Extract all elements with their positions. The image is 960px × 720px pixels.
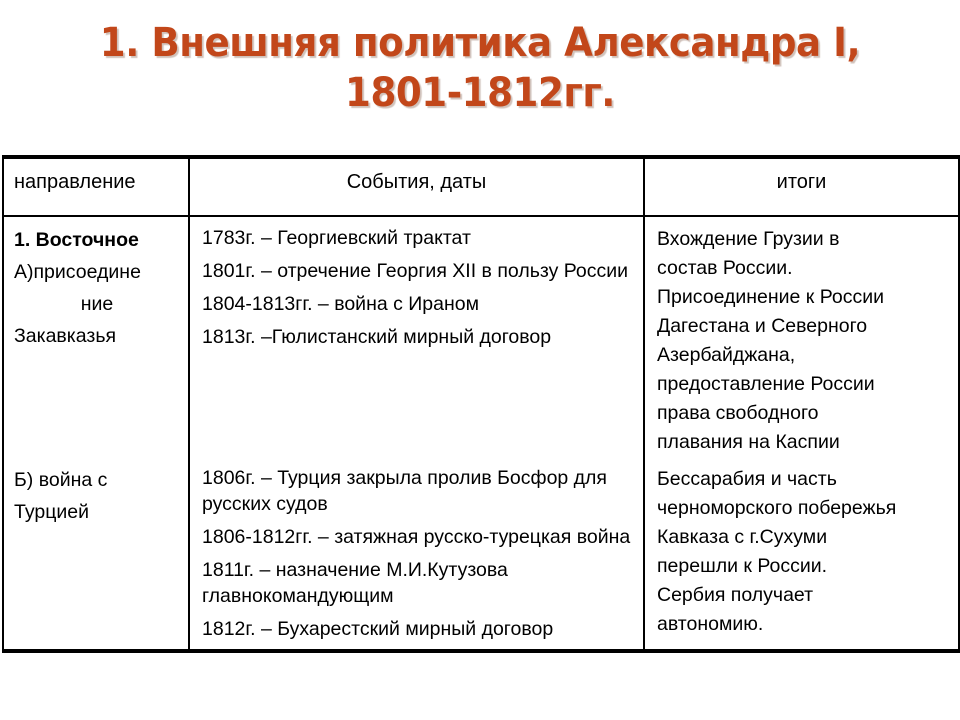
event-item: 1813г. –Гюлистанский мирный договор (202, 324, 637, 350)
direction-eastern-sub-line-1: А)присоедине (14, 257, 180, 287)
result-line: Вхождение Грузии в (657, 225, 950, 254)
events-eastern-content: 1783г. – Георгиевский трактат 1801г. – о… (190, 217, 643, 350)
result-line: права свободного (657, 399, 950, 428)
column-header-direction: направление (3, 157, 189, 216)
table-row: Б) война с Турцией 1806г. – Турция закры… (3, 457, 959, 651)
events-turkey-content: 1806г. – Турция закрыла пролив Босфор дл… (190, 457, 643, 642)
direction-eastern-sub-line-3: Закавказья (14, 321, 180, 351)
column-header-direction-label: направление (4, 159, 188, 194)
direction-turkey-sub-line-1: Б) война с (14, 465, 180, 495)
result-line: Сербия получает (657, 581, 950, 610)
result-line: Присоединение к России (657, 283, 950, 312)
result-line: автономию. (657, 610, 950, 639)
cell-results-eastern: Вхождение Грузии в состав России. Присое… (644, 216, 959, 457)
event-item: 1806г. – Турция закрыла пролив Босфор дл… (202, 465, 637, 517)
page-title-line-2: 1801-1812гг. (34, 68, 927, 118)
direction-eastern-content: 1. Восточное А)присоедине ние Закавказья (4, 217, 188, 351)
result-line: предоставление России (657, 370, 950, 399)
event-item: 1811г. – назначение М.И.Кутузова главнок… (202, 557, 637, 609)
direction-turkey-content: Б) война с Турцией (4, 457, 188, 527)
column-header-results-label: итоги (645, 159, 958, 194)
column-header-events: События, даты (189, 157, 644, 216)
direction-eastern-heading: 1. Восточное (14, 225, 180, 255)
table-row: 1. Восточное А)присоедине ние Закавказья… (3, 216, 959, 457)
results-turkey-content: Бессарабия и часть черноморского побереж… (645, 457, 958, 639)
direction-turkey-sub-line-3: Турцией (14, 497, 180, 527)
event-item: 1812г. – Бухарестский мирный договор (202, 616, 637, 642)
result-line: плавания на Каспии (657, 428, 950, 457)
table-header: направление События, даты итоги (3, 157, 959, 216)
event-item: 1783г. – Георгиевский трактат (202, 225, 637, 251)
table-body: 1. Восточное А)присоедине ние Закавказья… (3, 216, 959, 651)
column-header-events-label: События, даты (190, 159, 643, 194)
foreign-policy-table: направление События, даты итоги 1. Восто… (2, 155, 960, 653)
result-line: состав России. (657, 254, 950, 283)
table-header-row: направление События, даты итоги (3, 157, 959, 216)
direction-eastern-sub-line-2: ние (14, 289, 180, 319)
cell-events-eastern: 1783г. – Георгиевский трактат 1801г. – о… (189, 216, 644, 457)
cell-direction-eastern: 1. Восточное А)присоедине ние Закавказья (3, 216, 189, 457)
cell-results-turkey: Бессарабия и часть черноморского побереж… (644, 457, 959, 651)
result-line: Кавказа с г.Сухуми (657, 523, 950, 552)
page-title: 1. Внешняя политика Александра I, 1801-1… (34, 18, 927, 118)
results-eastern-content: Вхождение Грузии в состав России. Присое… (645, 217, 958, 457)
result-line: перешли к России. (657, 552, 950, 581)
result-line: Азербайджана, (657, 341, 950, 370)
event-item: 1804-1813гг. – война с Ираном (202, 291, 637, 317)
event-item: 1801г. – отречение Георгия XII в пользу … (202, 258, 637, 284)
page-title-line-1: 1. Внешняя политика Александра I, (34, 18, 927, 68)
result-line: черноморского побережья (657, 494, 950, 523)
cell-events-turkey: 1806г. – Турция закрыла пролив Босфор дл… (189, 457, 644, 651)
column-header-results: итоги (644, 157, 959, 216)
event-item: 1806-1812гг. – затяжная русско-турецкая … (202, 524, 637, 550)
result-line: Дагестана и Северного (657, 312, 950, 341)
result-line: Бессарабия и часть (657, 465, 950, 494)
cell-direction-turkey: Б) война с Турцией (3, 457, 189, 651)
